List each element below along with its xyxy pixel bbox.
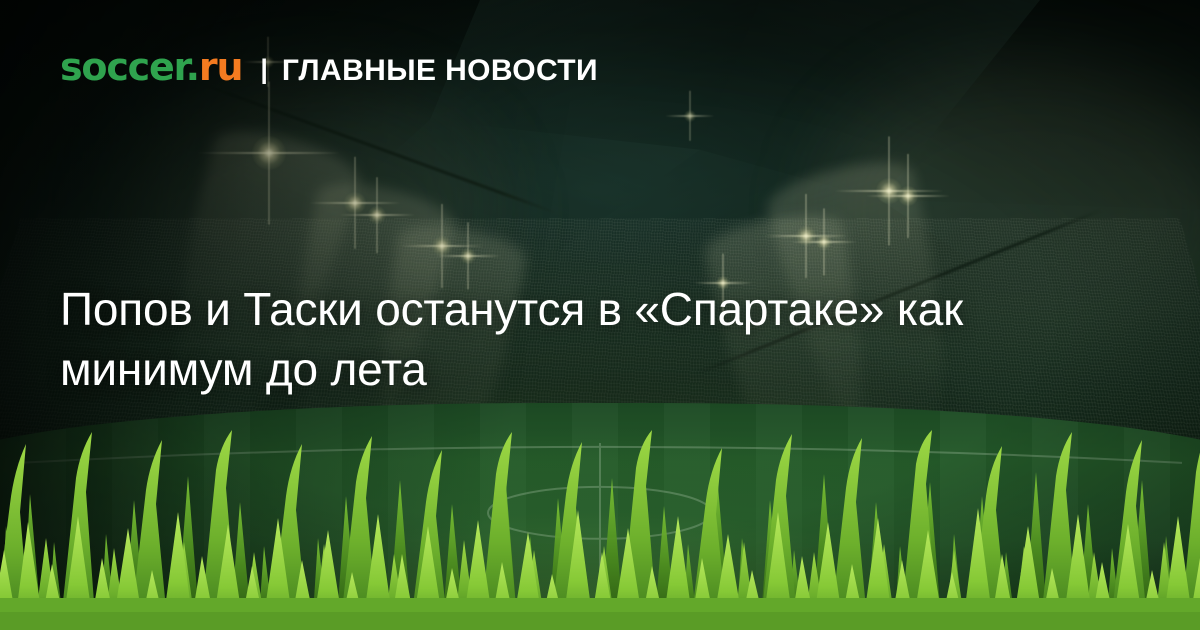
card-content: soccer.ru | ГЛАВНЫЕ НОВОСТИ Попов и Таск… (0, 0, 1200, 630)
logo-text-soccer: soccer (60, 45, 186, 89)
header-section-label: ГЛАВНЫЕ НОВОСТИ (282, 56, 598, 86)
page-title: Попов и Таски останутся в «Спартаке» как… (60, 279, 1100, 399)
logo-text-ru: ru (199, 45, 242, 89)
header-separator: | (260, 56, 268, 83)
news-share-card: soccer.ru | ГЛАВНЫЕ НОВОСТИ Попов и Таск… (0, 0, 1200, 630)
site-logo[interactable]: soccer.ru (60, 48, 242, 86)
logo-text-dot: . (186, 45, 199, 89)
card-header: soccer.ru | ГЛАВНЫЕ НОВОСТИ (60, 48, 598, 86)
